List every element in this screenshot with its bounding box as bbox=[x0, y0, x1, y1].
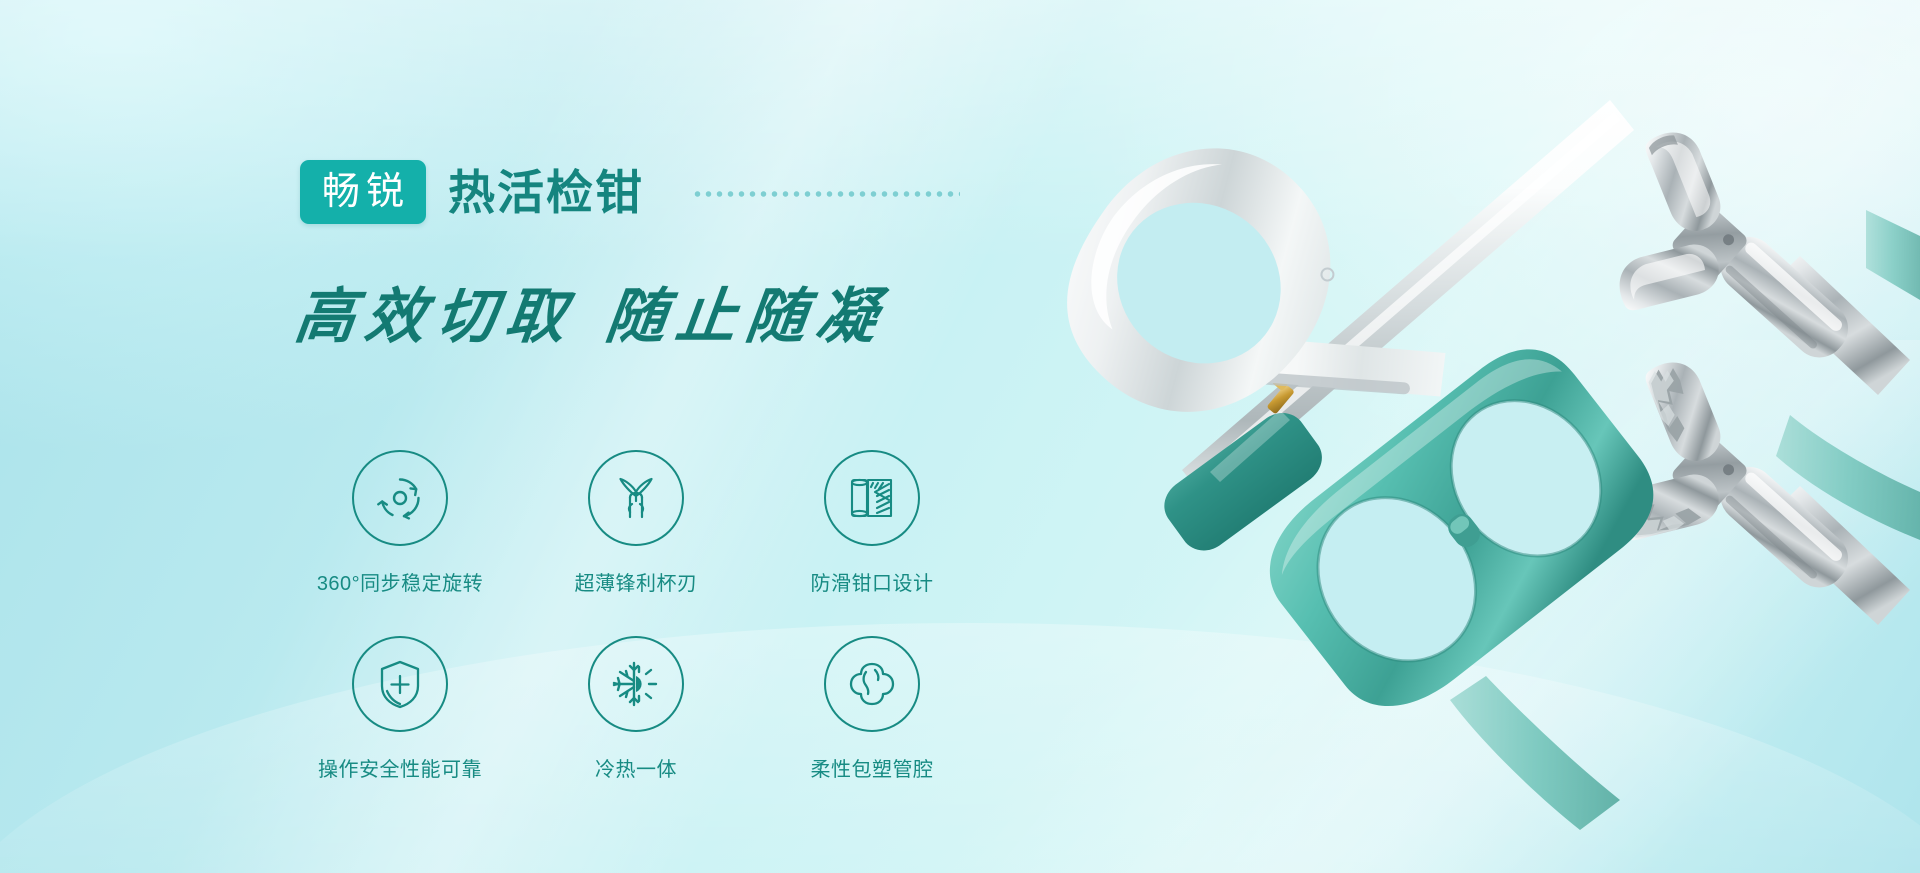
anti-slip-jaw-icon bbox=[824, 450, 920, 546]
banner-content: 畅锐 热活检钳 高效切取 随止随凝 bbox=[0, 0, 1100, 873]
shield-safety-icon bbox=[352, 636, 448, 732]
feature-label: 冷热一体 bbox=[595, 753, 677, 782]
feature-item: 柔性包塑管腔 bbox=[754, 636, 990, 822]
feature-label: 360°同步稳定旋转 bbox=[317, 567, 483, 596]
feature-item: 360°同步稳定旋转 bbox=[282, 450, 518, 636]
sharp-cup-blade-icon bbox=[588, 450, 684, 546]
teal-connector-hub-with-gold-pin bbox=[1160, 375, 1326, 562]
feature-grid: 360°同步稳定旋转 超薄锋利杯刃 bbox=[282, 450, 990, 822]
page-title: 热活检钳 bbox=[448, 169, 644, 216]
serrated-toothed-jaws bbox=[1613, 353, 1910, 625]
slogan-text: 高效切取 随止随凝 bbox=[291, 268, 893, 355]
feature-label: 柔性包塑管腔 bbox=[811, 753, 934, 782]
feature-item: 冷热一体 bbox=[518, 636, 754, 822]
rotation-360-icon bbox=[352, 450, 448, 546]
feature-item: 操作安全性能可靠 bbox=[282, 636, 518, 822]
title-row: 畅锐 热活检钳 bbox=[300, 160, 960, 224]
brand-badge: 畅锐 bbox=[300, 160, 426, 224]
flexible-lumen-icon bbox=[824, 636, 920, 732]
feature-label: 操作安全性能可靠 bbox=[318, 753, 482, 782]
feature-item: 防滑钳口设计 bbox=[754, 450, 990, 636]
feature-label: 超薄锋利杯刃 bbox=[575, 567, 698, 596]
feature-item: 超薄锋利杯刃 bbox=[518, 450, 754, 636]
product-banner: 畅锐 热活检钳 高效切取 随止随凝 bbox=[0, 0, 1920, 873]
dotted-divider bbox=[692, 191, 960, 197]
feature-label: 防滑钳口设计 bbox=[811, 567, 934, 596]
hot-cold-icon bbox=[588, 636, 684, 732]
